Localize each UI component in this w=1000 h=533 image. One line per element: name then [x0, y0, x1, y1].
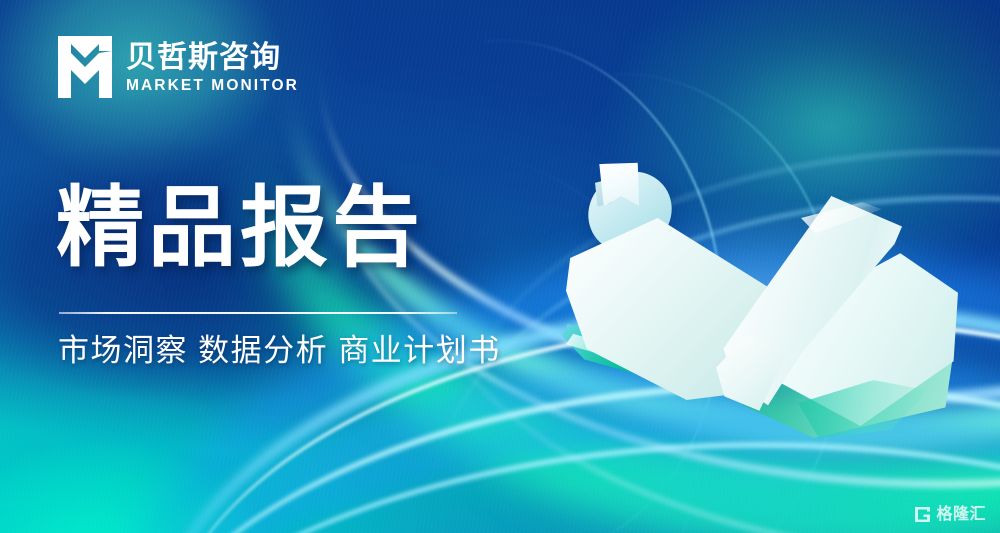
title-divider [59, 312, 457, 314]
brand-logo-text: 贝哲斯咨询 MARKET MONITOR [126, 41, 299, 94]
brand-name-cn: 贝哲斯咨询 [126, 43, 299, 73]
report-cover-banner: 贝哲斯咨询 MARKET MONITOR 精品报告 市场洞察 数据分析 商业计划… [0, 0, 1000, 533]
gelonghui-g-logo-icon [914, 506, 931, 523]
page-subtitle: 市场洞察 数据分析 商业计划书 [58, 332, 501, 369]
watermark-text: 格隆汇 [936, 507, 986, 523]
brand-name-en: MARKET MONITOR [126, 78, 299, 94]
watermark: 格隆汇 [914, 506, 986, 523]
open-book-3d-illustration [560, 150, 960, 440]
brand-logo[interactable]: 贝哲斯咨询 MARKET MONITOR [58, 36, 299, 98]
page-title: 精品报告 [56, 181, 424, 274]
market-monitor-m-logo-icon [58, 36, 112, 98]
